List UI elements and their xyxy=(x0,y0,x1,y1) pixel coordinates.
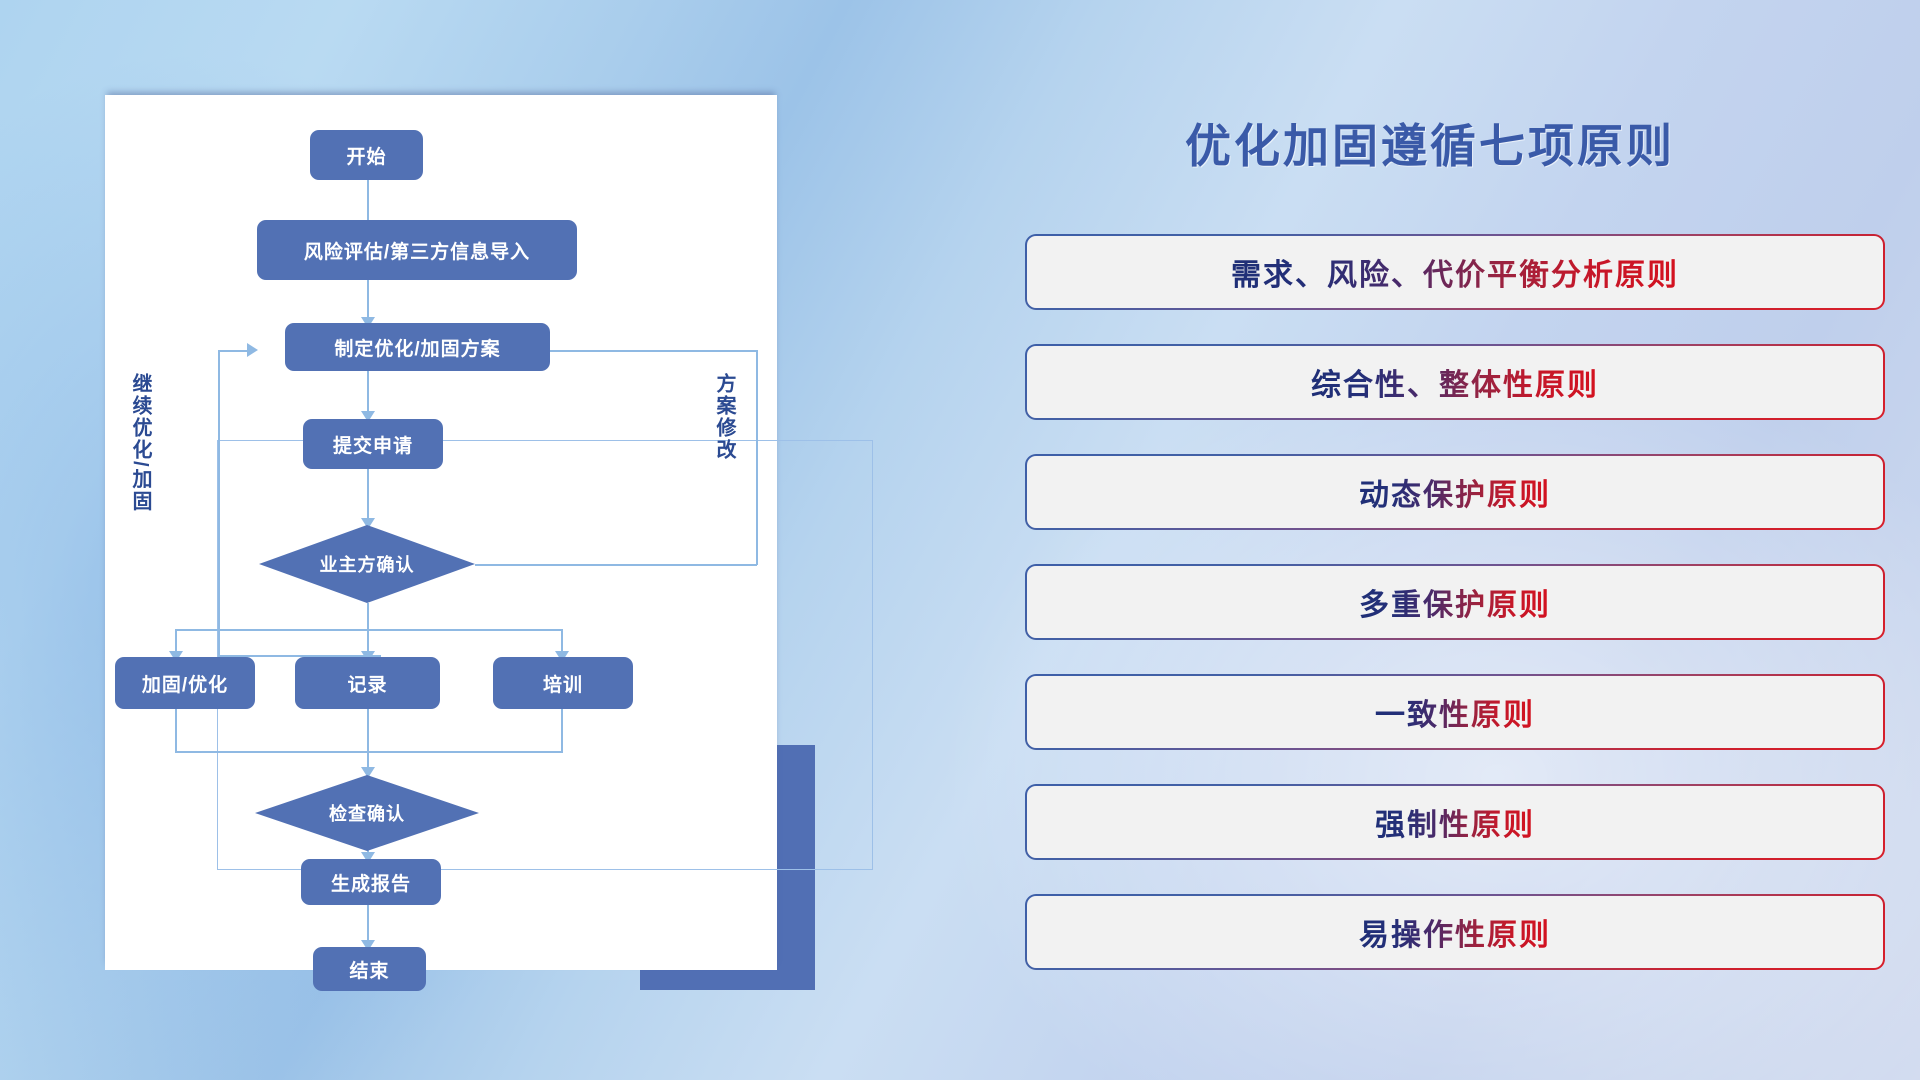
arrow-left-to-plan xyxy=(247,343,258,357)
connector-right-up xyxy=(756,350,758,565)
principle-item[interactable]: 易操作性原则 xyxy=(1025,894,1885,970)
principle-item-inner: 易操作性原则 xyxy=(1027,896,1883,968)
principle-label: 一致性原则 xyxy=(1375,690,1535,734)
flow-node-record[interactable]: 记录 xyxy=(295,657,440,709)
flow-node-training[interactable]: 培训 xyxy=(493,657,633,709)
principles-list: 需求、风险、代价平衡分析原则 综合性、整体性原则 动态保护原则 多重保护原则 一… xyxy=(1025,234,1885,1004)
flow-node-reinforce-optimize[interactable]: 加固/优化 xyxy=(115,657,255,709)
flow-node-label: 结束 xyxy=(349,956,389,983)
principle-item[interactable]: 动态保护原则 xyxy=(1025,454,1885,530)
principle-item-inner: 需求、风险、代价平衡分析原则 xyxy=(1027,236,1883,308)
principle-item[interactable]: 一致性原则 xyxy=(1025,674,1885,750)
flow-node-label: 加固/优化 xyxy=(142,670,228,697)
flow-node-label: 风险评估/第三方信息导入 xyxy=(304,237,530,264)
connector-left-up xyxy=(218,350,220,656)
flow-node-label: 培训 xyxy=(543,670,583,697)
principle-item-inner: 综合性、整体性原则 xyxy=(1027,346,1883,418)
flow-node-generate-report[interactable]: 生成报告 xyxy=(301,859,441,905)
principles-panel: 优化加固遵循七项原则 需求、风险、代价平衡分析原则 综合性、整体性原则 动态保护… xyxy=(940,0,1920,1080)
edge-label-plan-revision: 方案修改 xyxy=(713,373,734,461)
principle-label: 多重保护原则 xyxy=(1359,580,1551,624)
connector-owner-down xyxy=(367,603,369,629)
connector-submit-to-owner xyxy=(367,469,369,525)
principle-label: 综合性、整体性原则 xyxy=(1311,360,1599,404)
flow-node-submit-application[interactable]: 提交申请 xyxy=(303,419,443,469)
principle-label: 动态保护原则 xyxy=(1359,470,1551,514)
flow-node-label: 业主方确认 xyxy=(320,551,415,577)
edge-label-continue-optimize: 继续优化/加固 xyxy=(129,373,150,513)
principle-label: 易操作性原则 xyxy=(1359,910,1551,954)
principle-label: 需求、风险、代价平衡分析原则 xyxy=(1231,250,1679,294)
flowchart-card: 开始 风险评估/第三方信息导入 制定优化/加固方案 提交申请 业主方确认 加固/… xyxy=(105,95,777,970)
connector-left-to-plan xyxy=(218,350,249,352)
flow-node-plan[interactable]: 制定优化/加固方案 xyxy=(285,323,550,371)
flow-node-label: 检查确认 xyxy=(329,800,405,826)
connector-train-down xyxy=(561,709,563,751)
flow-node-label: 开始 xyxy=(346,142,386,169)
principle-item-inner: 强制性原则 xyxy=(1027,786,1883,858)
connector-record-down xyxy=(367,709,369,775)
flow-node-label: 提交申请 xyxy=(333,431,413,458)
principle-item-inner: 一致性原则 xyxy=(1027,676,1883,748)
flowchart-panel: 开始 风险评估/第三方信息导入 制定优化/加固方案 提交申请 业主方确认 加固/… xyxy=(0,0,940,1080)
principle-item[interactable]: 强制性原则 xyxy=(1025,784,1885,860)
principle-item-inner: 动态保护原则 xyxy=(1027,456,1883,528)
flow-node-label: 制定优化/加固方案 xyxy=(334,334,500,361)
connector-merge-bus xyxy=(175,751,563,753)
connector-reinforce-down xyxy=(175,709,177,751)
principle-label: 强制性原则 xyxy=(1375,800,1535,844)
principle-item[interactable]: 多重保护原则 xyxy=(1025,564,1885,640)
principle-item[interactable]: 需求、风险、代价平衡分析原则 xyxy=(1025,234,1885,310)
principle-item-inner: 多重保护原则 xyxy=(1027,566,1883,638)
principle-item[interactable]: 综合性、整体性原则 xyxy=(1025,344,1885,420)
flow-node-start[interactable]: 开始 xyxy=(310,130,423,180)
connector-owner-right xyxy=(475,564,757,566)
flow-node-risk-assessment[interactable]: 风险评估/第三方信息导入 xyxy=(257,220,577,280)
principles-title: 优化加固遵循七项原则 xyxy=(940,110,1920,176)
flow-node-label: 生成报告 xyxy=(331,869,411,896)
flow-node-end[interactable]: 结束 xyxy=(313,947,426,991)
flow-node-label: 记录 xyxy=(347,670,387,697)
